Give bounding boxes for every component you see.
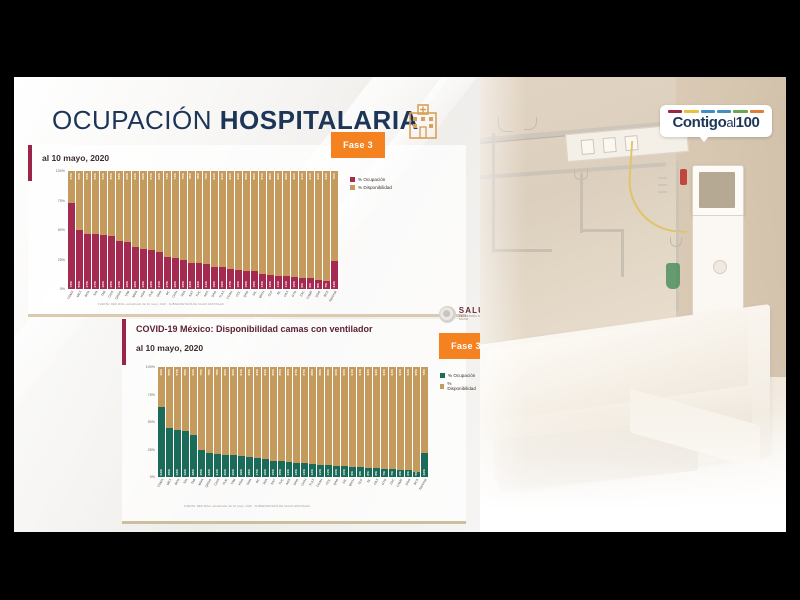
- bar-column[interactable]: 54%46%: [99, 171, 107, 289]
- bar-value-label: 88%: [269, 173, 272, 180]
- bar-value-label: 47%: [86, 281, 89, 288]
- bar-segment-occupancy: 36%: [132, 247, 139, 289]
- bar-column[interactable]: 67%33%: [147, 171, 155, 289]
- bar-segment-occupancy: 46%: [100, 235, 107, 289]
- bar-segment-occupancy: 38%: [190, 435, 197, 477]
- bar-segment-occupancy: 21%: [214, 454, 221, 477]
- bar-value-label: 15%: [245, 281, 248, 288]
- bar-column[interactable]: 89%11%: [274, 171, 282, 289]
- bar-value-label: 87%: [295, 369, 298, 376]
- bar-value-label: 22%: [423, 469, 426, 476]
- bar-segment-availability: 93%: [381, 367, 388, 469]
- x-axis-tick-label: SON: [155, 290, 162, 298]
- bar-segment-occupancy: 15%: [243, 271, 250, 289]
- bar-column[interactable]: 90%10%: [332, 367, 340, 477]
- bar-value-label: 79%: [216, 369, 219, 376]
- x-axis-tick-label: MOR: [131, 290, 138, 298]
- bar-value-label: 85%: [272, 369, 275, 376]
- bar-column[interactable]: 64%36%: [131, 171, 139, 289]
- x-axis-cell: QROO: [205, 477, 213, 501]
- bar-column[interactable]: 55%45%: [165, 367, 173, 477]
- x-axis-cell: OAX: [282, 289, 290, 313]
- bar-value-label: 19%: [213, 281, 216, 288]
- x-axis-tick-label: DGO: [404, 478, 411, 486]
- bar-value-label: 88%: [311, 369, 314, 376]
- bar-column[interactable]: 27%73%: [67, 171, 75, 289]
- bar-segment-availability: 91%: [349, 367, 356, 467]
- bar-value-label: 87%: [261, 173, 264, 180]
- bar-column[interactable]: 78%22%: [205, 367, 213, 477]
- x-axis-tick-label: TAB: [100, 290, 106, 297]
- chart-card-ventilator-beds: COVID-19 México: Disponibilidad camas co…: [122, 319, 466, 524]
- bar-column[interactable]: 91%9%: [356, 367, 364, 477]
- bar-column[interactable]: 86%14%: [285, 367, 293, 477]
- bar-column[interactable]: 83%17%: [226, 171, 234, 289]
- x-axis-cell: CAMP: [306, 289, 314, 313]
- x-axis-tick-label: QRO: [333, 478, 340, 486]
- x-axis-cell: VER: [261, 477, 269, 501]
- bar-segment-occupancy: 31%: [156, 252, 163, 289]
- bar-segment-availability: 87%: [293, 367, 300, 463]
- bar-segment-occupancy: 19%: [211, 267, 218, 289]
- bar-value-label: 11%: [285, 281, 288, 287]
- legend-item-occupancy: % Ocupación: [350, 177, 392, 182]
- bar-column[interactable]: 66%34%: [139, 171, 147, 289]
- x-axis-tick-label: PUE: [147, 290, 154, 298]
- x-axis-cell: MOR: [131, 289, 139, 313]
- bar-segment-occupancy: 24%: [331, 261, 338, 289]
- bar-segment-availability: 67%: [148, 171, 155, 250]
- bar-value-label: 12%: [269, 281, 272, 288]
- bar-column[interactable]: 84%16%: [234, 171, 242, 289]
- bar-segment-occupancy: 34%: [140, 249, 147, 289]
- logo-color-bar: [684, 110, 698, 113]
- bar-segment-availability: 83%: [254, 367, 261, 458]
- bar-segment-availability: 55%: [166, 367, 173, 428]
- bar-value-label: 54%: [102, 173, 105, 180]
- bar-value-label: 93%: [383, 369, 386, 376]
- bar-column[interactable]: 81%19%: [237, 367, 245, 477]
- x-axis-tick-label: BCS: [323, 290, 330, 298]
- bar-segment-occupancy: 22%: [421, 453, 428, 477]
- x-axis-cell: MICH: [348, 477, 356, 501]
- bar-column[interactable]: 93%7%: [380, 367, 388, 477]
- chart2-heading: COVID-19 México: Disponibilidad camas co…: [136, 324, 373, 334]
- bar-segment-occupancy: 13%: [259, 274, 266, 289]
- x-axis-tick-label: CHIS: [213, 478, 220, 486]
- bar-segment-occupancy: 27%: [164, 257, 171, 289]
- bar-segment-availability: 95%: [413, 367, 420, 472]
- bar-segment-availability: 80%: [222, 367, 229, 455]
- bar-column[interactable]: 62%38%: [189, 367, 197, 477]
- chart2-bars: 36%64%55%45%57%43%58%42%62%38%75%25%78%2…: [157, 367, 428, 477]
- contigo-al-100-logo: Contigoal100: [660, 105, 772, 143]
- y-axis-tick: 0%: [150, 475, 155, 479]
- bar-segment-occupancy: 19%: [219, 267, 226, 289]
- bar-segment-availability: 57%: [174, 367, 181, 430]
- bar-column[interactable]: 92%8%: [372, 367, 380, 477]
- bar-segment-availability: 60%: [124, 171, 131, 242]
- legend-item-availability: % Disponibilidad: [350, 185, 392, 190]
- chart2-source-note: FUENTE: RED IRAG, actualizado del 10 may…: [184, 505, 310, 508]
- x-axis-cell: Nacional: [420, 477, 428, 501]
- bar-value-label: 46%: [102, 281, 105, 288]
- chart1-source-note: FUENTE: RED IRAG, actualizado del 10 may…: [98, 303, 224, 306]
- bar-value-label: 6%: [407, 471, 410, 476]
- bar-value-label: 92%: [367, 369, 370, 376]
- x-axis-tick-label: COL: [325, 478, 332, 486]
- y-axis-tick: 25%: [148, 448, 155, 452]
- legend-swatch-availability: [350, 185, 355, 190]
- x-axis-cell: COL: [234, 289, 242, 313]
- bar-value-label: 79%: [205, 173, 208, 180]
- bar-column[interactable]: 94%6%: [396, 367, 404, 477]
- x-axis-tick-label: GRO: [293, 478, 300, 486]
- bar-value-label: 80%: [232, 369, 235, 376]
- x-axis-tick-label: ZAC: [389, 478, 396, 485]
- bar-value-label: 67%: [150, 173, 153, 180]
- bar-value-label: 11%: [277, 281, 280, 287]
- hospital-room-photo: Contigoal100: [480, 77, 786, 532]
- bar-value-label: 87%: [303, 369, 306, 376]
- x-axis-cell: CHIS: [107, 289, 115, 313]
- y-axis-tick: 50%: [148, 420, 155, 424]
- bar-segment-availability: 54%: [100, 171, 107, 235]
- x-axis-cell: ZAC: [388, 477, 396, 501]
- bar-column[interactable]: 81%19%: [218, 171, 226, 289]
- bar-column[interactable]: 84%16%: [261, 367, 269, 477]
- bar-column[interactable]: 60%40%: [123, 171, 131, 289]
- bar-value-label: 20%: [224, 469, 227, 476]
- bar-column[interactable]: 78%22%: [195, 171, 203, 289]
- bar-segment-availability: 89%: [325, 367, 332, 465]
- x-axis-tick-label: JAL: [342, 478, 348, 485]
- bar-column[interactable]: 82%18%: [245, 367, 253, 477]
- bar-column[interactable]: 83%17%: [253, 367, 261, 477]
- bar-segment-occupancy: 10%: [291, 277, 298, 289]
- bar-column[interactable]: 91%9%: [298, 171, 306, 289]
- bar-segment-availability: 85%: [251, 171, 258, 271]
- x-axis-cell: TAM: [123, 289, 131, 313]
- wall-pipe: [580, 229, 624, 232]
- bar-column[interactable]: 80%20%: [229, 367, 237, 477]
- bar-column[interactable]: 76%24%: [330, 171, 338, 289]
- bar-segment-availability: 74%: [172, 171, 179, 258]
- page-title-bold: HOSPITALARIA: [220, 105, 419, 135]
- bar-column[interactable]: 79%21%: [202, 171, 210, 289]
- x-axis-tick-label: QRO: [243, 290, 250, 298]
- bar-value-label: 26%: [174, 281, 177, 288]
- video-content-frame: OCUPACIÓN HOSPITALARIA al 10 mayo,: [14, 77, 786, 532]
- bar-value-label: 78%: [189, 173, 192, 180]
- bar-value-label: 73%: [70, 281, 73, 288]
- bar-value-label: 91%: [301, 173, 304, 180]
- bar-column[interactable]: 79%21%: [213, 367, 221, 477]
- bar-column[interactable]: 88%12%: [308, 367, 316, 477]
- bar-value-label: 15%: [272, 469, 275, 476]
- bar-value-label: 93%: [391, 369, 394, 376]
- bar-value-label: 14%: [287, 469, 290, 476]
- bar-value-label: 5%: [415, 472, 418, 476]
- salud-logo: SALUD SECRETARÍA DE SALUD: [439, 306, 480, 323]
- bar-column[interactable]: 92%8%: [364, 367, 372, 477]
- bar-segment-availability: 78%: [196, 171, 203, 263]
- bar-column[interactable]: 85%15%: [277, 367, 285, 477]
- x-axis-cell: QRO: [332, 477, 340, 501]
- bar-value-label: 45%: [110, 281, 113, 288]
- bar-value-label: 78%: [208, 369, 211, 376]
- logo-wordmark: Contigoal100: [660, 114, 772, 131]
- x-axis-cell: COAH: [226, 289, 234, 313]
- x-axis-tick-label: VER: [179, 290, 186, 298]
- bar-value-label: 47%: [94, 281, 97, 288]
- bar-column[interactable]: 55%45%: [107, 171, 115, 289]
- x-axis-cell: TLAX: [308, 477, 316, 501]
- bar-segment-availability: 91%: [357, 367, 364, 467]
- logo-color-bar: [733, 110, 747, 113]
- x-axis-cell: PUE: [147, 289, 155, 313]
- bar-segment-occupancy: 9%: [299, 278, 306, 289]
- bar-column[interactable]: 58%42%: [181, 367, 189, 477]
- bar-value-label: 55%: [110, 173, 113, 180]
- x-axis-cell: AGS: [202, 289, 210, 313]
- x-axis-tick-label: CAMP: [306, 290, 314, 300]
- bar-segment-occupancy: 13%: [293, 463, 300, 477]
- x-axis-cell: HGO: [139, 289, 147, 313]
- bar-column[interactable]: 91%9%: [306, 171, 314, 289]
- bar-value-label: 9%: [301, 283, 304, 288]
- card-accent-bar: [122, 319, 126, 365]
- chart1-date-label: al 10 mayo, 2020: [42, 153, 109, 163]
- bar-segment-occupancy: 8%: [365, 468, 372, 477]
- gas-outlet-icon: [602, 137, 616, 153]
- bar-value-label: 89%: [327, 369, 330, 376]
- bar-segment-availability: 53%: [84, 171, 91, 234]
- bar-column[interactable]: 80%20%: [221, 367, 229, 477]
- bar-column[interactable]: 95%5%: [412, 367, 420, 477]
- x-axis-cell: TAB: [189, 477, 197, 501]
- bar-segment-occupancy: 15%: [278, 461, 285, 478]
- wall-pipe: [621, 229, 624, 277]
- bar-segment-occupancy: 73%: [68, 203, 75, 289]
- bar-column[interactable]: 94%6%: [404, 367, 412, 477]
- green-fluid-bag: [666, 263, 680, 289]
- bar-column[interactable]: 69%31%: [155, 171, 163, 289]
- x-axis-tick-label: Nacional: [418, 478, 427, 490]
- bar-column[interactable]: 75%25%: [197, 367, 205, 477]
- legend-item-occupancy: % Ocupación: [440, 373, 477, 378]
- bar-value-label: 15%: [279, 469, 282, 476]
- logo-color-bar: [668, 110, 682, 113]
- bar-segment-occupancy: 18%: [246, 457, 253, 477]
- bar-value-label: 78%: [423, 369, 426, 376]
- bar-column[interactable]: 81%19%: [210, 171, 218, 289]
- x-axis-cell: MEX: [75, 289, 83, 313]
- x-axis-cell: COAH: [316, 477, 324, 501]
- bar-column[interactable]: 85%15%: [242, 171, 250, 289]
- bar-value-label: 41%: [118, 281, 121, 288]
- bar-value-label: 85%: [253, 173, 256, 180]
- bar-value-label: 81%: [213, 173, 216, 180]
- x-axis-cell: OAX: [372, 477, 380, 501]
- bar-value-label: 42%: [184, 469, 187, 476]
- x-axis-cell: SLP: [356, 477, 364, 501]
- bar-column[interactable]: 75%25%: [179, 171, 187, 289]
- bar-segment-occupancy: 19%: [238, 456, 245, 477]
- bar-segment-occupancy: 16%: [235, 270, 242, 289]
- bar-column[interactable]: 89%11%: [324, 367, 332, 477]
- x-axis-tick-label: MEX: [166, 478, 173, 486]
- chart2-plot-area: 0%25%50%75%100% 36%64%55%45%57%43%58%42%…: [140, 367, 428, 477]
- legend-swatch-availability: [440, 384, 444, 389]
- bar-column[interactable]: 89%11%: [316, 367, 324, 477]
- bar-segment-occupancy: 8%: [373, 468, 380, 477]
- chart2-date-label: al 10 mayo, 2020: [136, 343, 203, 353]
- y-axis-tick: 100%: [146, 365, 155, 369]
- x-axis-cell: SON: [245, 477, 253, 501]
- bar-segment-availability: 82%: [246, 367, 253, 457]
- bar-value-label: 6%: [399, 471, 402, 476]
- legend-item-availability: % Disponibilidad: [440, 381, 477, 391]
- ventilator-button: [658, 177, 667, 179]
- bar-column[interactable]: 87%13%: [292, 367, 300, 477]
- x-axis-tick-label: DGO: [314, 290, 321, 298]
- chart2-x-axis: CDMXMEXBCNSINTABMORQROOCHISPUETAMHGOSONB…: [157, 477, 428, 501]
- bar-value-label: 83%: [256, 369, 259, 376]
- bar-segment-occupancy: 7%: [323, 281, 330, 289]
- bar-segment-occupancy: 40%: [124, 242, 131, 289]
- bar-column[interactable]: 57%43%: [173, 367, 181, 477]
- bar-segment-availability: 85%: [243, 171, 250, 271]
- bar-segment-occupancy: 42%: [182, 431, 189, 477]
- x-axis-cell: GTO: [290, 289, 298, 313]
- x-axis-cell: MOR: [197, 477, 205, 501]
- x-axis-tick-label: AGS: [203, 290, 210, 298]
- bar-segment-availability: 90%: [341, 367, 348, 466]
- bar-column[interactable]: 78%22%: [187, 171, 195, 289]
- bar-value-label: 20%: [232, 469, 235, 476]
- x-axis-tick-label: TAM: [230, 478, 237, 485]
- logo-word-contigo: Contigo: [672, 114, 726, 131]
- x-axis-cell: VER: [179, 289, 187, 313]
- x-axis-tick-label: GTO: [381, 478, 388, 486]
- bar-column[interactable]: 36%64%: [157, 367, 165, 477]
- bar-segment-availability: 79%: [203, 171, 210, 264]
- bar-column[interactable]: 92%8%: [314, 171, 322, 289]
- chart1-y-axis: 0%25%50%75%100%: [50, 171, 67, 289]
- bar-segment-occupancy: 12%: [267, 275, 274, 289]
- bar-column[interactable]: 50%50%: [75, 171, 83, 289]
- bar-column[interactable]: 74%26%: [171, 171, 179, 289]
- logo-word-al: al: [726, 115, 735, 130]
- x-axis-cell: CHIH: [300, 477, 308, 501]
- bar-value-label: 38%: [192, 469, 195, 476]
- x-axis-cell: PUE: [221, 477, 229, 501]
- bar-segment-availability: 88%: [309, 367, 316, 464]
- bar-column[interactable]: 93%7%: [388, 367, 396, 477]
- bar-value-label: 11%: [327, 469, 330, 475]
- x-axis-tick-label: YUC: [277, 478, 284, 486]
- bar-value-label: 91%: [351, 369, 354, 376]
- bar-column[interactable]: 91%9%: [348, 367, 356, 477]
- bar-column[interactable]: 53%47%: [83, 171, 91, 289]
- bar-value-label: 89%: [277, 173, 280, 180]
- x-axis-cell: TAM: [229, 477, 237, 501]
- bar-value-label: 25%: [182, 281, 185, 288]
- bar-segment-occupancy: 47%: [84, 234, 91, 289]
- bar-value-label: 18%: [248, 469, 251, 476]
- bar-column[interactable]: 90%10%: [340, 367, 348, 477]
- bar-value-label: 57%: [176, 369, 179, 376]
- bar-value-label: 25%: [200, 469, 203, 476]
- bar-value-label: 92%: [317, 173, 320, 180]
- bar-column[interactable]: 87%13%: [258, 171, 266, 289]
- bar-value-label: 84%: [264, 369, 267, 376]
- page-title-light: OCUPACIÓN: [52, 105, 220, 135]
- bar-value-label: 53%: [86, 173, 89, 180]
- logo-color-bar: [717, 110, 731, 113]
- x-axis-tick-label: NAY: [187, 290, 194, 297]
- chart1-x-axis: CDMXMEXBCNSINTABCHISQROOTAMMORHGOPUESONB…: [67, 289, 338, 313]
- bar-segment-availability: 92%: [373, 367, 380, 468]
- bar-value-label: 21%: [205, 281, 208, 288]
- bar-segment-availability: 76%: [331, 171, 338, 261]
- x-axis-cell: BC: [163, 289, 171, 313]
- bar-segment-occupancy: 21%: [203, 264, 210, 289]
- x-axis-tick-label: COL: [235, 290, 242, 298]
- bar-column[interactable]: 85%15%: [250, 171, 258, 289]
- bar-segment-occupancy: 14%: [286, 462, 293, 477]
- x-axis-tick-label: HGO: [139, 290, 146, 298]
- x-axis-cell: MEX: [165, 477, 173, 501]
- bar-column[interactable]: 78%22%: [420, 367, 428, 477]
- bar-segment-availability: 58%: [182, 367, 189, 431]
- bar-column[interactable]: 73%27%: [163, 171, 171, 289]
- x-axis-cell: QRO: [242, 289, 250, 313]
- bar-column[interactable]: 53%47%: [91, 171, 99, 289]
- bar-value-label: 19%: [221, 281, 224, 288]
- bar-segment-occupancy: 11%: [283, 276, 290, 289]
- bar-value-label: 50%: [78, 281, 81, 288]
- x-axis-cell: SLP: [266, 289, 274, 313]
- bar-value-label: 17%: [229, 281, 232, 288]
- bar-segment-occupancy: 45%: [108, 236, 115, 289]
- bar-segment-occupancy: 12%: [309, 464, 316, 477]
- bar-column[interactable]: 59%41%: [115, 171, 123, 289]
- ventilator-monitor: [692, 165, 744, 217]
- x-axis-cell: ZAC: [298, 289, 306, 313]
- bar-value-label: 21%: [216, 469, 219, 476]
- x-axis-cell: DGO: [314, 289, 322, 313]
- red-clip-icon: [680, 169, 687, 185]
- bar-segment-occupancy: 17%: [254, 458, 261, 477]
- bar-column[interactable]: 89%11%: [282, 171, 290, 289]
- bar-segment-availability: 59%: [116, 171, 123, 241]
- bar-column[interactable]: 87%13%: [300, 367, 308, 477]
- bar-column[interactable]: 85%15%: [269, 367, 277, 477]
- logo-bubble-tail: [698, 135, 710, 142]
- bar-column[interactable]: 90%10%: [290, 171, 298, 289]
- bar-segment-availability: 84%: [262, 367, 269, 459]
- bar-value-label: 9%: [351, 471, 354, 476]
- bar-value-label: 10%: [335, 469, 338, 476]
- bar-value-label: 19%: [240, 469, 243, 476]
- bar-value-label: 9%: [359, 471, 362, 476]
- bar-column[interactable]: 88%12%: [266, 171, 274, 289]
- bar-segment-occupancy: 9%: [357, 467, 364, 477]
- x-axis-tick-label: TAM: [124, 290, 131, 297]
- bar-column[interactable]: 93%7%: [322, 171, 330, 289]
